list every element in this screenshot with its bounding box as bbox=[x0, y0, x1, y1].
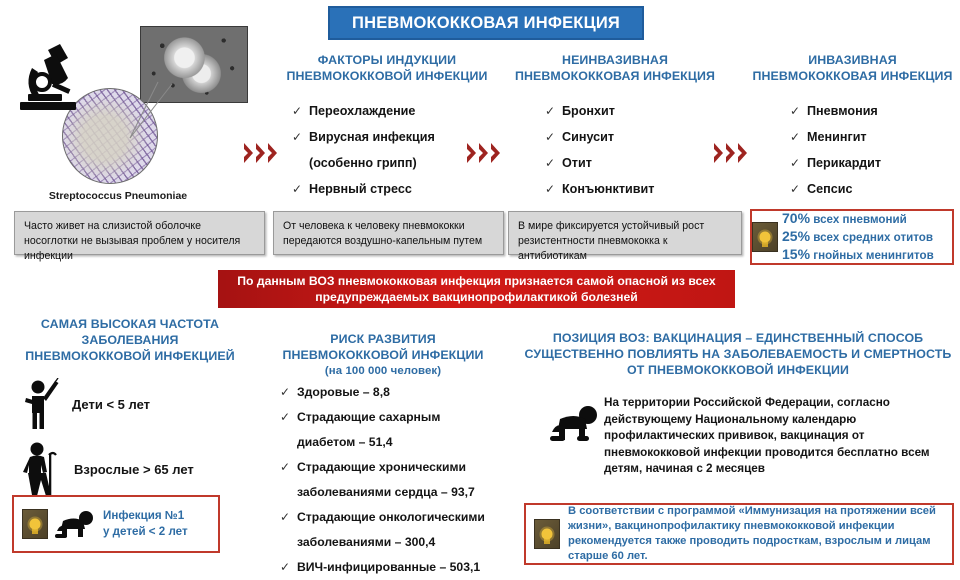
age-group-adults: Взрослые > 65 лет bbox=[18, 440, 194, 498]
frequency-header-line3: ПНЕВМОКОККОВОЙ ИНФЕКЦИЕЙ bbox=[6, 348, 254, 364]
list-item-continuation: заболеваниями – 300,4 bbox=[280, 530, 530, 555]
check-icon: ✓ bbox=[292, 98, 302, 124]
list-item: ✓Здоровые – 8,8 bbox=[280, 380, 530, 405]
statistic-row: 25% всех средних отитов bbox=[782, 228, 934, 246]
risk-section-header: РИСК РАЗВИТИЯ ПНЕВМОКОККОВОЙ ИНФЕКЦИИ (н… bbox=[258, 331, 508, 379]
check-icon: ✓ bbox=[545, 124, 555, 150]
bulb-badge-icon bbox=[534, 519, 560, 549]
statistic-percent: 15% bbox=[782, 246, 810, 262]
immunization-program-box: В соответствии с программой «Иммунизация… bbox=[524, 503, 954, 565]
check-icon: ✓ bbox=[280, 455, 290, 480]
infection-no1-line1: Инфекция №1 bbox=[103, 508, 188, 524]
column-header-line1: ИНВАЗИВНАЯ bbox=[745, 52, 960, 68]
check-icon: ✓ bbox=[545, 150, 555, 176]
list-item-label: Нервный стресс bbox=[309, 182, 412, 196]
list-item: ✓Перикардит bbox=[790, 150, 960, 176]
statistic-percent: 70% bbox=[782, 210, 810, 226]
risk-statistics-list: ✓Здоровые – 8,8 ✓Страдающие сахарным диа… bbox=[280, 380, 530, 580]
list-item-label: Страдающие онкологическими bbox=[297, 510, 485, 524]
check-icon: ✓ bbox=[292, 176, 302, 202]
list-item-label: Отит bbox=[562, 156, 592, 170]
check-icon: ✓ bbox=[292, 124, 302, 150]
russian-federation-paragraph: На территории Российской Федерации, согл… bbox=[604, 395, 956, 478]
list-item-continuation: (особенно грипп) bbox=[292, 150, 502, 176]
elderly-person-with-cane-icon bbox=[18, 440, 64, 498]
induction-factors-list: ✓Переохлаждение ✓Вирусная инфекция (особ… bbox=[292, 98, 502, 202]
list-item-label: Переохлаждение bbox=[309, 104, 415, 118]
check-icon: ✓ bbox=[545, 176, 555, 202]
list-item-label: Вирусная инфекция bbox=[309, 130, 435, 144]
list-item-label: Конъюнктивит bbox=[562, 182, 654, 196]
list-item-label: Синусит bbox=[562, 130, 614, 144]
bulb-badge-icon bbox=[22, 509, 48, 539]
check-icon: ✓ bbox=[545, 98, 555, 124]
list-item: ✓Страдающие хроническими bbox=[280, 455, 530, 480]
who-position-line3: ОТ ПНЕВМОКОККОВОЙ ИНФЕКЦИИ bbox=[516, 362, 960, 378]
who-position-line1: ПОЗИЦИЯ ВОЗ: ВАКЦИНАЦИЯ – ЕДИНСТВЕННЫЙ С… bbox=[516, 330, 960, 346]
column-header-line2: ПНЕВМОКОККОВОЙ ИНФЕКЦИИ bbox=[272, 68, 502, 84]
column-header-line2: ПНЕВМОКОККОВАЯ ИНФЕКЦИЯ bbox=[745, 68, 960, 84]
page-title: ПНЕВМОКОККОВАЯ ИНФЕКЦИЯ bbox=[352, 14, 620, 33]
column-header-invasive: ИНВАЗИВНАЯ ПНЕВМОКОККОВАЯ ИНФЕКЦИЯ bbox=[745, 52, 960, 84]
list-item: ✓Отит bbox=[545, 150, 735, 176]
list-item-label: Сепсис bbox=[807, 182, 852, 196]
chevron-right-icon bbox=[255, 142, 266, 164]
list-item-label: Здоровые – 8,8 bbox=[297, 385, 390, 399]
list-item-label: Страдающие сахарным bbox=[297, 410, 440, 424]
list-item-label: Пневмония bbox=[807, 104, 878, 118]
check-icon: ✓ bbox=[790, 176, 800, 202]
infection-no1-line2: у детей < 2 лет bbox=[103, 524, 188, 540]
who-statement-text: По данным ВОЗ пневмококковая инфекция пр… bbox=[226, 273, 727, 305]
list-item: ✓ВИЧ-инфицированные – 503,1 bbox=[280, 555, 530, 580]
invasive-list: ✓Пневмония ✓Менингит ✓Перикардит ✓Сепсис bbox=[790, 98, 960, 202]
frequency-header-line2: ЗАБОЛЕВАНИЯ bbox=[6, 332, 254, 348]
list-item: ✓Пневмония bbox=[790, 98, 960, 124]
column-header-line1: ФАКТОРЫ ИНДУКЦИИ bbox=[272, 52, 502, 68]
list-item-label: диабетом – 51,4 bbox=[297, 435, 393, 449]
child-icon bbox=[22, 378, 62, 430]
list-item: ✓Вирусная инфекция bbox=[292, 124, 502, 150]
chevron-right-icon bbox=[243, 142, 254, 164]
column-header-noninvasive: НЕИНВАЗИВНАЯ ПНЕВМОКОККОВАЯ ИНФЕКЦИЯ bbox=[505, 52, 725, 84]
frequency-section-header: САМАЯ ВЫСОКАЯ ЧАСТОТА ЗАБОЛЕВАНИЯ ПНЕВМО… bbox=[6, 316, 254, 364]
list-item-label: заболеваниями сердца – 93,7 bbox=[297, 485, 475, 499]
chevron-right-icon bbox=[267, 142, 278, 164]
check-icon: ✓ bbox=[280, 380, 290, 405]
statistic-label: гнойных менингитов bbox=[813, 249, 933, 262]
check-icon: ✓ bbox=[280, 555, 290, 580]
microscope-icon bbox=[18, 38, 88, 114]
list-item: ✓Страдающие онкологическими bbox=[280, 505, 530, 530]
crawling-baby-icon bbox=[548, 404, 602, 444]
statistic-row: 70% всех пневмоний bbox=[782, 210, 934, 228]
chevron-right-icon bbox=[737, 142, 748, 164]
risk-header-line2: ПНЕВМОКОККОВОЙ ИНФЕКЦИИ bbox=[258, 347, 508, 363]
risk-header-line3: (на 100 000 человек) bbox=[258, 363, 508, 379]
who-statement-banner: По данным ВОЗ пневмококковая инфекция пр… bbox=[218, 270, 735, 308]
check-icon: ✓ bbox=[790, 150, 800, 176]
immunization-program-text: В соответствии с программой «Иммунизация… bbox=[568, 504, 952, 564]
fact-box-resistance: В мире фиксируется устойчивый рост резис… bbox=[508, 211, 742, 255]
list-item-continuation: заболеваниями сердца – 93,7 bbox=[280, 480, 530, 505]
column-header-induction-factors: ФАКТОРЫ ИНДУКЦИИ ПНЕВМОКОККОВОЙ ИНФЕКЦИИ bbox=[272, 52, 502, 84]
statistic-percent: 25% bbox=[782, 228, 810, 244]
statistic-row: 15% гнойных менингитов bbox=[782, 246, 934, 264]
fact-box-transmission: От человека к человеку пневмококки перед… bbox=[273, 211, 504, 255]
list-item: ✓Страдающие сахарным bbox=[280, 405, 530, 430]
column-header-line2: ПНЕВМОКОККОВАЯ ИНФЕКЦИЯ bbox=[505, 68, 725, 84]
statistics-box: 70% всех пневмоний 25% всех средних отит… bbox=[750, 209, 954, 265]
age-group-label: Дети < 5 лет bbox=[72, 397, 150, 412]
chevron-arrow-1 bbox=[243, 142, 278, 164]
page-title-banner: ПНЕВМОКОККОВАЯ ИНФЕКЦИЯ bbox=[328, 6, 644, 40]
list-item: ✓Синусит bbox=[545, 124, 735, 150]
infection-number-one-box: Инфекция №1 у детей < 2 лет bbox=[12, 495, 220, 553]
list-item-label: Бронхит bbox=[562, 104, 615, 118]
list-item-label: ВИЧ-инфицированные – 503,1 bbox=[297, 560, 480, 574]
list-item: ✓Сепсис bbox=[790, 176, 960, 202]
risk-header-line1: РИСК РАЗВИТИЯ bbox=[258, 331, 508, 347]
list-item-continuation: диабетом – 51,4 bbox=[280, 430, 530, 455]
statistic-label: всех средних отитов bbox=[813, 231, 933, 244]
list-item-label: (особенно грипп) bbox=[309, 156, 417, 170]
who-position-line2: СУЩЕСТВЕННО ПОВЛИЯТЬ НА ЗАБОЛЕВАЕМОСТЬ И… bbox=[516, 346, 960, 362]
column-header-line1: НЕИНВАЗИВНАЯ bbox=[505, 52, 725, 68]
check-icon: ✓ bbox=[790, 98, 800, 124]
crawling-baby-icon bbox=[53, 509, 97, 539]
list-item: ✓Менингит bbox=[790, 124, 960, 150]
list-item-label: Перикардит bbox=[807, 156, 881, 170]
micrograph-caption: Streptococcus Pneumoniae bbox=[10, 190, 226, 202]
list-item-label: Страдающие хроническими bbox=[297, 460, 466, 474]
check-icon: ✓ bbox=[790, 124, 800, 150]
list-item-label: Менингит bbox=[807, 130, 867, 144]
fact-box-carrier: Часто живет на слизистой оболочке носогл… bbox=[14, 211, 265, 255]
statistic-label: всех пневмоний bbox=[813, 213, 906, 226]
list-item: ✓Бронхит bbox=[545, 98, 735, 124]
check-icon: ✓ bbox=[280, 405, 290, 430]
noninvasive-list: ✓Бронхит ✓Синусит ✓Отит ✓Конъюнктивит bbox=[545, 98, 735, 202]
list-item-label: заболеваниями – 300,4 bbox=[297, 535, 435, 549]
age-group-children: Дети < 5 лет bbox=[22, 378, 150, 430]
who-position-header: ПОЗИЦИЯ ВОЗ: ВАКЦИНАЦИЯ – ЕДИНСТВЕННЫЙ С… bbox=[516, 330, 960, 378]
list-item: ✓Конъюнктивит bbox=[545, 176, 735, 202]
micrograph-illustration: Streptococcus Pneumoniae bbox=[6, 14, 256, 204]
leader-line-icon bbox=[128, 80, 174, 140]
infection-number-one-text: Инфекция №1 у детей < 2 лет bbox=[103, 508, 188, 540]
bulb-badge-icon bbox=[752, 222, 778, 252]
frequency-header-line1: САМАЯ ВЫСОКАЯ ЧАСТОТА bbox=[6, 316, 254, 332]
check-icon: ✓ bbox=[280, 505, 290, 530]
list-item: ✓Переохлаждение bbox=[292, 98, 502, 124]
statistics-rows: 70% всех пневмоний 25% всех средних отит… bbox=[782, 210, 934, 264]
age-group-label: Взрослые > 65 лет bbox=[74, 462, 194, 477]
list-item: ✓Нервный стресс bbox=[292, 176, 502, 202]
